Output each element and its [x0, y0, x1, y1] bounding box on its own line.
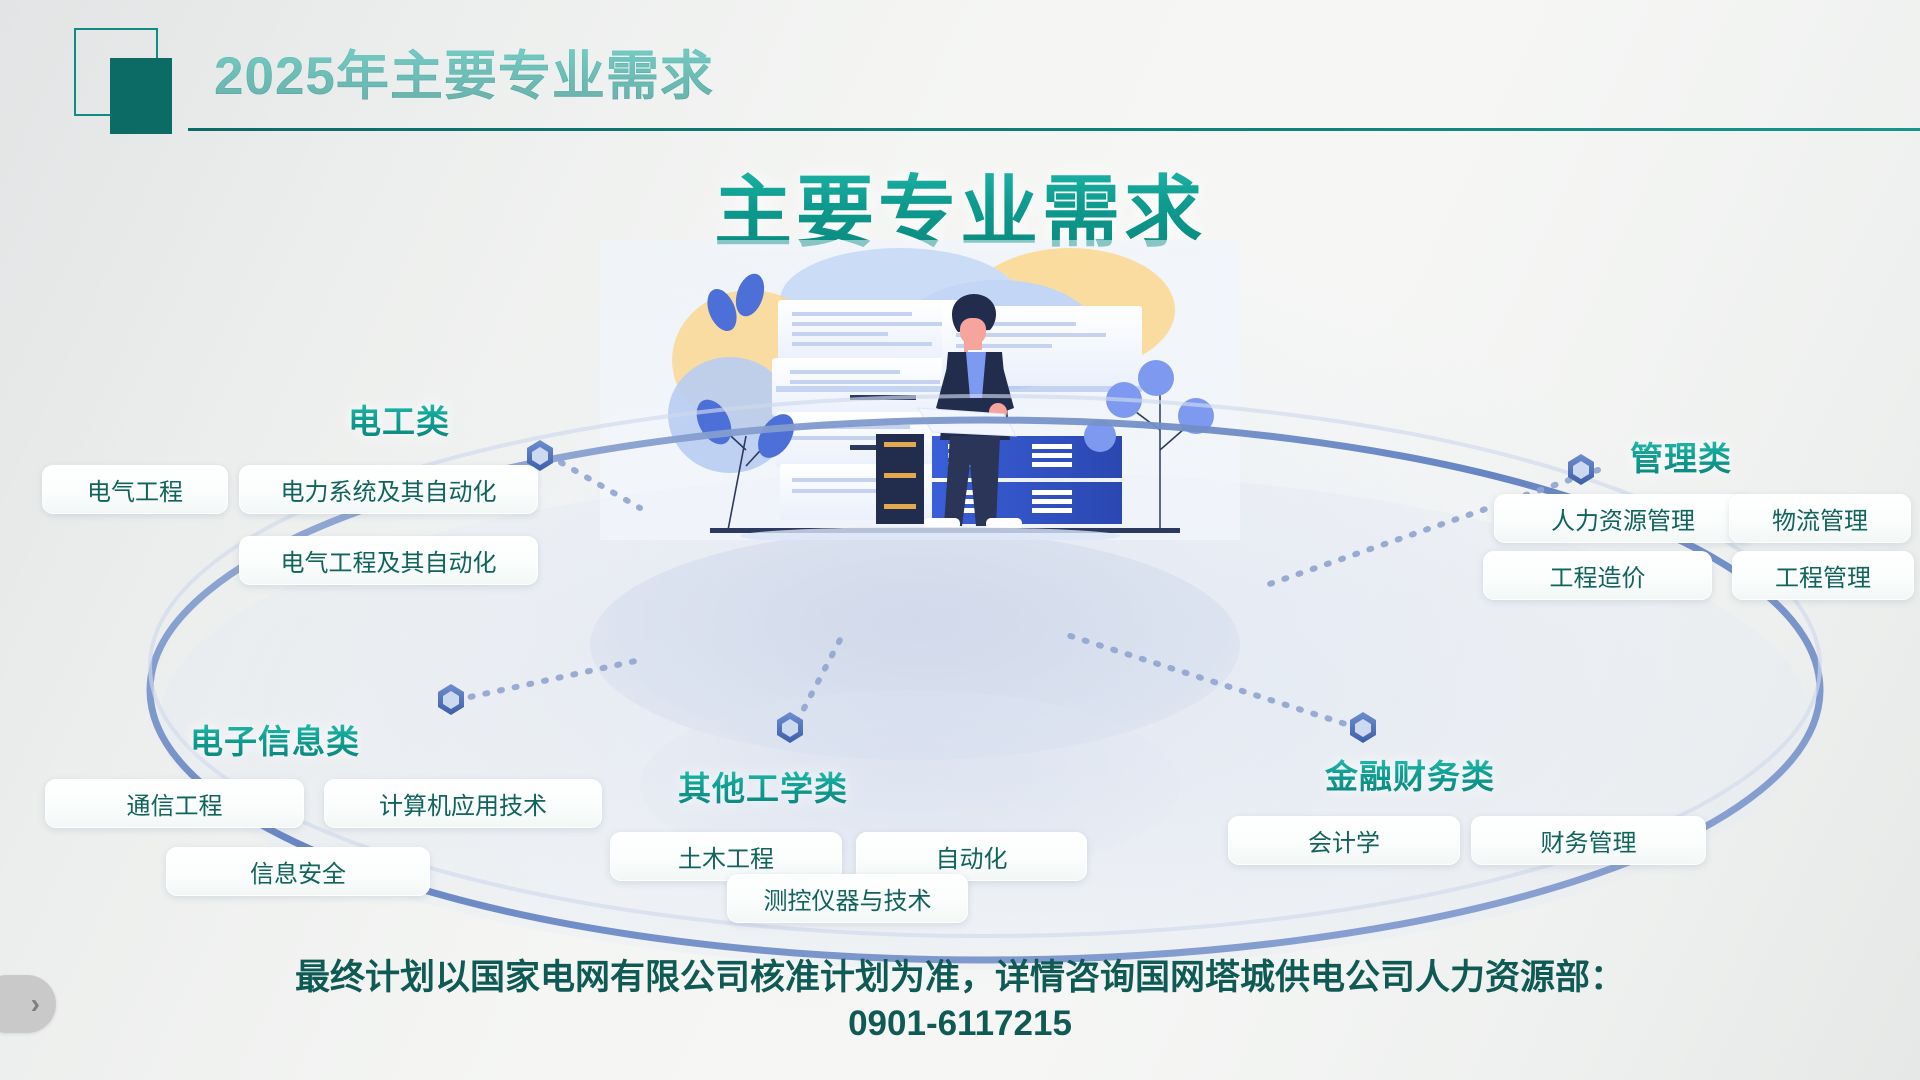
footer-note: 最终计划以国家电网有限公司核准计划为准，详情咨询国网塔城供电公司人力资源部： 0…	[0, 955, 1920, 1047]
node-other-engineering	[777, 712, 803, 743]
major-tag[interactable]: 通信工程	[45, 779, 304, 828]
category-label-other-engineering: 其他工学类	[678, 762, 848, 810]
major-tag[interactable]: 财务管理	[1471, 816, 1706, 865]
major-tag[interactable]: 电气工程	[42, 465, 228, 514]
diagram-stage: 电工类 管理类 电子信息类 其他工学类 金融财务类 电气工程 电力系统及其自动化…	[0, 0, 1920, 1080]
major-tag[interactable]: 工程造价	[1483, 551, 1712, 600]
next-slide-button[interactable]: ›	[0, 975, 56, 1033]
category-label-finance: 金融财务类	[1325, 750, 1495, 798]
connector-finance	[1058, 632, 1358, 728]
major-tag[interactable]: 信息安全	[166, 847, 430, 896]
footer-line-2: 0901-6117215	[0, 1001, 1920, 1047]
major-tag[interactable]: 电力系统及其自动化	[239, 465, 538, 514]
major-tag[interactable]: 物流管理	[1729, 494, 1911, 543]
category-label-management: 管理类	[1630, 432, 1732, 480]
major-tag[interactable]: 测控仪器与技术	[727, 874, 968, 923]
connector-electrical	[548, 455, 640, 508]
major-tag[interactable]: 会计学	[1228, 816, 1460, 865]
category-label-electronic-info: 电子信息类	[190, 715, 360, 763]
category-label-electrical: 电工类	[348, 395, 450, 443]
node-finance	[1350, 712, 1376, 743]
major-tag[interactable]: 人力资源管理	[1494, 494, 1752, 543]
chevron-right-icon: ›	[31, 990, 40, 1018]
connector-electronic-info	[456, 660, 640, 700]
major-tag[interactable]: 工程管理	[1732, 551, 1914, 600]
major-tag[interactable]: 计算机应用技术	[324, 779, 602, 828]
major-tag[interactable]: 电气工程及其自动化	[239, 536, 538, 585]
footer-line-1: 最终计划以国家电网有限公司核准计划为准，详情咨询国网塔城供电公司人力资源部：	[0, 955, 1920, 1001]
node-electronic-info	[438, 684, 464, 715]
